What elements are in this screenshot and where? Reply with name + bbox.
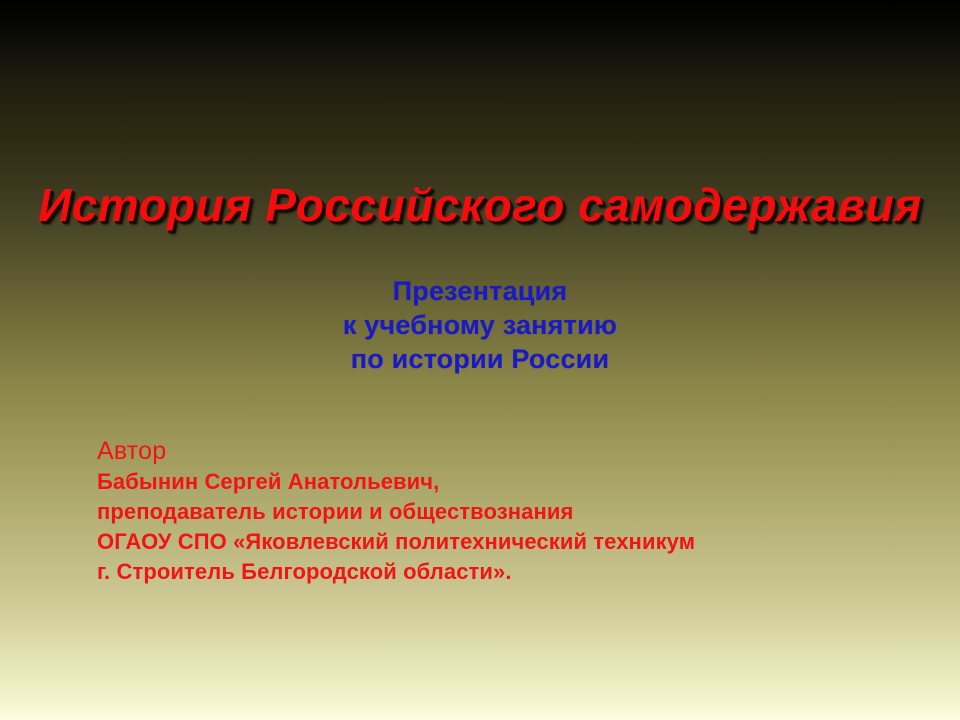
author-heading: Автор: [97, 436, 897, 467]
author-block: Автор Бабынин Сергей Анатольевич, препод…: [97, 436, 897, 587]
subtitle-block: Презентация к учебному занятию по истори…: [0, 274, 960, 376]
author-location: г. Строитель Белгородской области».: [97, 557, 897, 587]
subtitle-line-2: к учебному занятию: [0, 308, 960, 342]
presentation-slide: История Российского самодержавия Презент…: [0, 0, 960, 720]
page-title: История Российского самодержавия: [0, 179, 960, 232]
subtitle-line-1: Презентация: [0, 274, 960, 308]
subtitle-line-3: по истории России: [0, 342, 960, 376]
author-name: Бабынин Сергей Анатольевич,: [97, 467, 897, 497]
author-institution: ОГАОУ СПО «Яковлевский политехнический т…: [97, 527, 897, 557]
author-role: преподаватель истории и обществознания: [97, 497, 897, 527]
